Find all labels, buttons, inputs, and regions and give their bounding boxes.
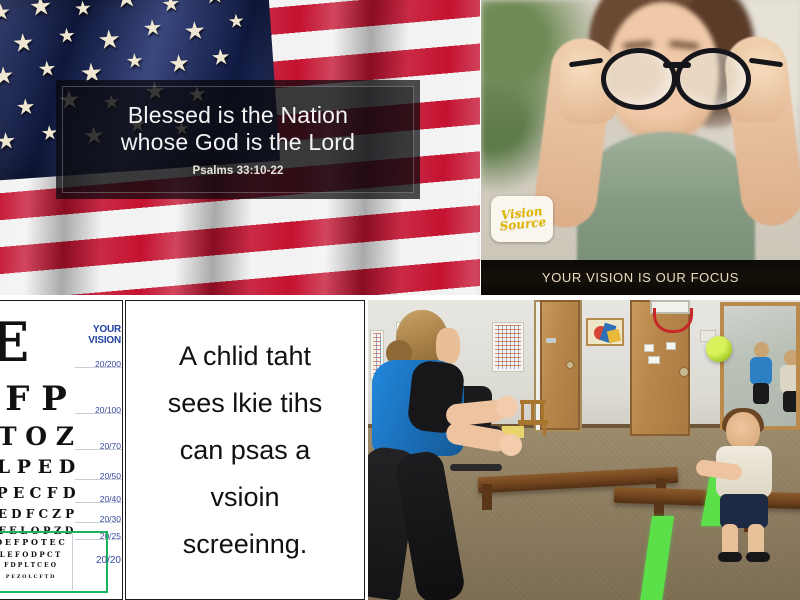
chart-row: P E C F D [0,483,86,503]
art-shape [607,329,621,343]
chair-leg [543,425,546,436]
chart-row: T O Z [0,421,86,451]
vision-source-ad-image: Vision Source YOUR VISION IS OUR FOCUS [481,0,800,295]
chart-acuity: 20/70 [87,441,121,451]
door-note [648,356,660,364]
chart-row: L P E D [0,455,86,479]
header-line-1: YOUR [93,324,121,335]
reflection-body [750,357,772,385]
american-flag-scripture-image: Blessed is the Nation whose God is the L… [0,0,480,295]
therapist-leg [393,449,466,600]
door-knob-icon [567,362,573,368]
text-line: vsioin [210,474,279,521]
scripture-quote-box: Blessed is the Nation whose God is the L… [62,86,414,193]
chart-row: F P [0,379,86,419]
mirror-reflection-adult [748,342,774,404]
child-shoe [746,552,770,562]
chart-small-row: L E F O D P C T [0,550,72,559]
eye-chart-panel: YOUR VISION E 20/200 F P 20/100 T O Z 20… [0,300,123,600]
left-lens [601,48,677,110]
quote-line-2: whose God is the Lord [121,129,355,156]
tagline-banner: YOUR VISION IS OUR FOCUS [481,260,800,295]
reflection-head [784,350,799,366]
collage-page: Blessed is the Nation whose God is the L… [0,0,800,600]
shirt-shape [577,132,755,260]
vision-source-logo: Vision Source [491,196,553,242]
reflection-body [780,365,800,393]
framed-artwork [586,318,624,346]
tagline-text: YOUR VISION IS OUR FOCUS [542,270,739,285]
therapist-hand [500,434,522,456]
chart-small-row: F D P L T C E O [0,562,72,569]
chart-acuity-2020: 20/20 [87,555,121,566]
door-label [546,338,556,343]
header-line-2: VISION [88,335,121,346]
chair-part [531,400,534,422]
eyeglasses-icon [601,48,751,100]
green-ball [706,336,732,362]
chart-acuity: 20/40 [87,494,121,504]
chair-part [541,400,544,422]
chart-row: E [0,311,88,373]
text-line: sees lkie tihs [168,380,323,427]
chart-acuity: 20/200 [87,359,121,369]
chart-acuity: 20/100 [87,405,121,415]
chart-acuity: 20/50 [87,471,121,481]
chart-acuity: 20/30 [87,514,121,524]
chart-small-row: P E Z O L C F T D [0,574,72,580]
chart-row: E D F C Z P [0,505,86,522]
door-knob-icon [680,368,688,376]
scrambled-text-panel: A chlid taht sees lkie tihs can psas a v… [125,300,365,600]
reflection-legs [783,391,799,412]
text-line: A chlid taht [179,333,311,380]
right-lens [675,48,751,110]
text-line: screeinng. [183,521,308,568]
eye-chart-content: YOUR VISION E 20/200 F P 20/100 T O Z 20… [0,303,123,599]
your-vision-header: YOUR VISION [85,325,121,346]
logo-text: Vision Source [498,206,547,233]
therapist-legs [368,448,484,600]
reflection-legs [753,383,769,404]
chair-part [521,400,524,422]
child-shoe [718,552,742,562]
child-shorts [720,494,768,528]
mirror-reflection-child [778,350,800,412]
scripture-reference: Psalms 33:10-22 [192,165,283,177]
therapist-figure [368,310,500,600]
therapist-hand [496,396,518,418]
door-note [644,344,654,352]
reflection-head [754,342,769,358]
text-line: can psas a [180,427,311,474]
vision-therapy-gym-image [368,300,800,600]
chart-small-row: D E F P O T E C [0,537,72,547]
glasses-bridge [663,62,691,68]
wooden-door [540,300,580,430]
optometry-photo: Vision Source [481,0,800,260]
quote-line-1: Blessed is the Nation [128,102,348,129]
small-letter-block: D E F P O T E C L E F O D P C T F D P L … [0,534,73,590]
door-note [666,342,676,350]
child-head [726,412,760,450]
therapist-face [436,328,460,364]
child-figure [700,412,790,560]
